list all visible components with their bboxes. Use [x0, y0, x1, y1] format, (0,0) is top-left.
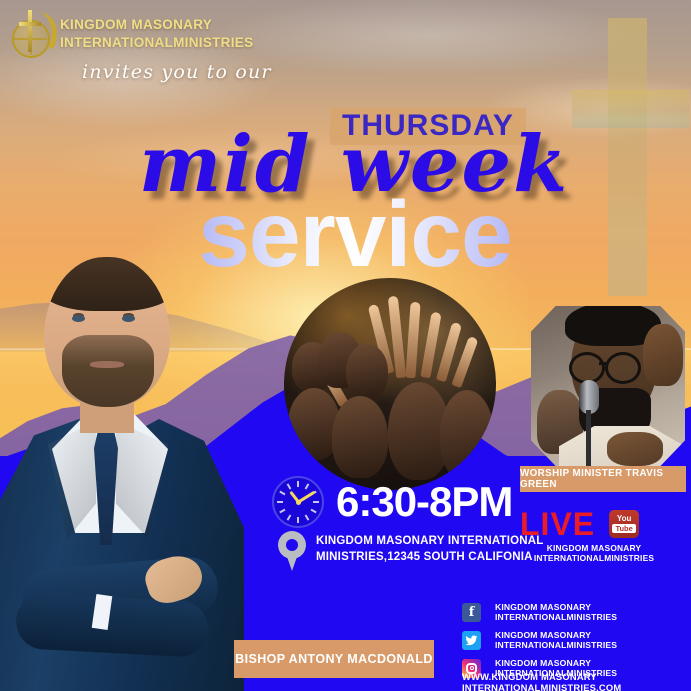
- crowd-head: [346, 344, 388, 398]
- organization-name: KINGDOM MASONARY INTERNATIONALMINISTRIES: [60, 8, 253, 51]
- logo-cross-horizontal: [19, 22, 41, 26]
- event-time: 6:30-8PM: [336, 481, 512, 523]
- microphone-icon: [579, 380, 599, 414]
- cross-horizontal-bar: [572, 90, 690, 128]
- cross-globe-logo-icon: [8, 8, 54, 60]
- bishop-name-badge: BISHOP ANTONY MACDONALD: [234, 640, 434, 678]
- clock-tick: [279, 491, 285, 496]
- bishop-arm-lower: [15, 592, 210, 658]
- minister-raised-hand: [643, 324, 683, 386]
- bishop-eye-left: [72, 315, 85, 322]
- worship-minister-photo: [531, 306, 685, 466]
- minister-hand-on-chest: [607, 432, 663, 466]
- bishop-beard: [62, 335, 154, 407]
- twitter-handle: KINGDOM MASONARY INTERNATIONALMINISTRIES: [495, 630, 691, 650]
- clock-icon: [272, 476, 324, 528]
- facebook-handle: KINGDOM MASONARY INTERNATIONALMINISTRIES: [495, 602, 691, 622]
- social-row-facebook[interactable]: f KINGDOM MASONARY INTERNATIONALMINISTRI…: [462, 602, 691, 622]
- social-row-twitter[interactable]: KINGDOM MASONARY INTERNATIONALMINISTRIES: [462, 630, 691, 650]
- clock-tick: [279, 509, 285, 514]
- org-name-line2: INTERNATIONALMINISTRIES: [60, 34, 253, 52]
- clock-tick: [305, 483, 310, 489]
- clock-tick: [305, 514, 310, 520]
- pin-tail: [285, 551, 299, 571]
- crowd-head: [332, 396, 388, 478]
- pin-hole: [286, 539, 298, 551]
- clock-tick: [277, 501, 283, 503]
- bishop-portrait-photo: [0, 251, 244, 691]
- youtube-tube-text: Tube: [612, 524, 635, 534]
- cross-vertical-bar: [608, 18, 647, 296]
- raised-hand: [405, 302, 420, 379]
- minister-glasses-right: [605, 352, 641, 384]
- bishop-eye-right: [122, 315, 135, 322]
- bishop-mouth: [90, 361, 124, 368]
- event-flyer: KINGDOM MASONARY INTERNATIONALMINISTRIES…: [0, 0, 691, 691]
- minister-glasses-bridge: [599, 362, 607, 365]
- crowd-head: [440, 390, 494, 480]
- event-time-row: 6:30-8PM: [272, 476, 512, 528]
- logo-cross-vertical: [28, 10, 32, 52]
- worship-crowd-photo: [284, 278, 496, 490]
- logo-row: KINGDOM MASONARY INTERNATIONALMINISTRIES: [8, 8, 308, 60]
- clock-tick: [297, 517, 299, 523]
- map-pin-icon: [278, 531, 306, 571]
- clock-tick: [297, 481, 299, 487]
- clock-tick: [287, 483, 292, 489]
- youtube-icon[interactable]: You Tube: [609, 510, 639, 538]
- website-url[interactable]: WWW.KINGDOM MASONARY INTERNATIONALMINIST…: [462, 671, 691, 691]
- clock-center-dot: [296, 500, 301, 505]
- twitter-icon[interactable]: [462, 631, 481, 650]
- live-channel-name: KINGDOM MASONARY INTERNATIONALMINISTRIES: [494, 543, 691, 563]
- main-title: service: [120, 188, 590, 281]
- microphone-stand: [586, 410, 591, 466]
- youtube-you-text: You: [617, 515, 632, 523]
- invitation-text: invites you to our: [82, 61, 308, 83]
- clock-tick: [310, 509, 316, 514]
- live-label: LIVE: [520, 508, 595, 540]
- worship-minister-name-badge: WORSHIP MINISTER TRAVIS GREEN: [520, 466, 686, 492]
- clock-tick: [287, 514, 292, 520]
- facebook-icon[interactable]: f: [462, 603, 481, 622]
- org-name-line1: KINGDOM MASONARY: [60, 16, 253, 34]
- live-stream-row[interactable]: LIVE You Tube: [520, 508, 639, 540]
- clock-tick: [313, 501, 319, 503]
- flyer-header: KINGDOM MASONARY INTERNATIONALMINISTRIES…: [8, 8, 308, 83]
